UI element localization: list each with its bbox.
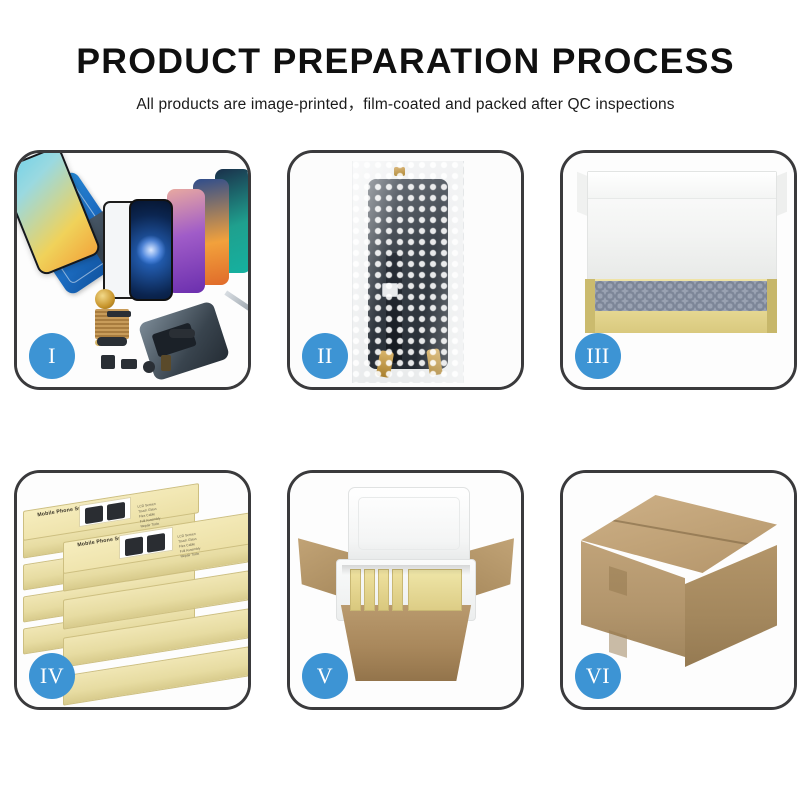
- white-box-lid: [587, 171, 777, 289]
- screen-thumb: [85, 505, 103, 524]
- step-panel-6: VI: [560, 470, 797, 710]
- foam-inner-shadow: [342, 565, 470, 575]
- small-component: [143, 361, 155, 373]
- screen-thumb: [107, 502, 125, 521]
- spare-parts-cluster: [95, 289, 225, 387]
- bag-sheen: [352, 161, 464, 383]
- box-spec-text: LCD Screen Touch Glass Flex Cable Full A…: [137, 502, 162, 531]
- tweezers-tool: [224, 290, 248, 312]
- tray-edge-right: [767, 279, 777, 333]
- step-badge-1: I: [29, 333, 75, 379]
- small-component: [161, 355, 171, 371]
- packed-yellow-box: [392, 569, 403, 611]
- small-component: [107, 311, 131, 317]
- flex-cable-part: [169, 329, 195, 338]
- product-preparation-infographic: PRODUCT PREPARATION PROCESS All products…: [0, 0, 811, 811]
- tray-edge-left: [585, 279, 595, 333]
- page-subtitle: All products are image-printed，film-coat…: [0, 92, 811, 114]
- packed-yellow-box: [364, 569, 375, 611]
- packed-yellow-box: [378, 569, 389, 611]
- step-panel-5: V: [287, 470, 524, 710]
- process-steps-grid: I II: [14, 150, 797, 750]
- small-component: [101, 355, 115, 369]
- screen-thumb: [125, 536, 143, 556]
- screen-thumb: [147, 533, 165, 553]
- step-badge-4: IV: [29, 653, 75, 699]
- carton-tape-lower: [609, 630, 627, 658]
- blue-display-phone: [129, 199, 173, 301]
- step-badge-3: III: [575, 333, 621, 379]
- header: PRODUCT PREPARATION PROCESS All products…: [0, 0, 811, 114]
- packed-yellow-box: [350, 569, 361, 611]
- packed-yellow-box-group: [408, 569, 462, 611]
- bubble-wrapped-contents: [595, 281, 767, 311]
- flex-cable-part: [97, 337, 127, 346]
- step-badge-5: V: [302, 653, 348, 699]
- gold-coil-part: [95, 289, 115, 309]
- step-badge-6: VI: [575, 653, 621, 699]
- step-panel-4: Mobile Phone Spare Parts LCD Screen Touc…: [14, 470, 251, 710]
- box-spec-text: LCD Screen Touch Glass Flex Cable Full A…: [177, 532, 202, 561]
- step-panel-3: III: [560, 150, 797, 390]
- step-badge-2: II: [302, 333, 348, 379]
- foam-cooler-lid: [348, 487, 470, 565]
- carton-body: [332, 605, 480, 681]
- page-title: PRODUCT PREPARATION PROCESS: [0, 44, 811, 81]
- step-panel-1: I: [14, 150, 251, 390]
- small-component: [121, 359, 137, 369]
- step-panel-2: II: [287, 150, 524, 390]
